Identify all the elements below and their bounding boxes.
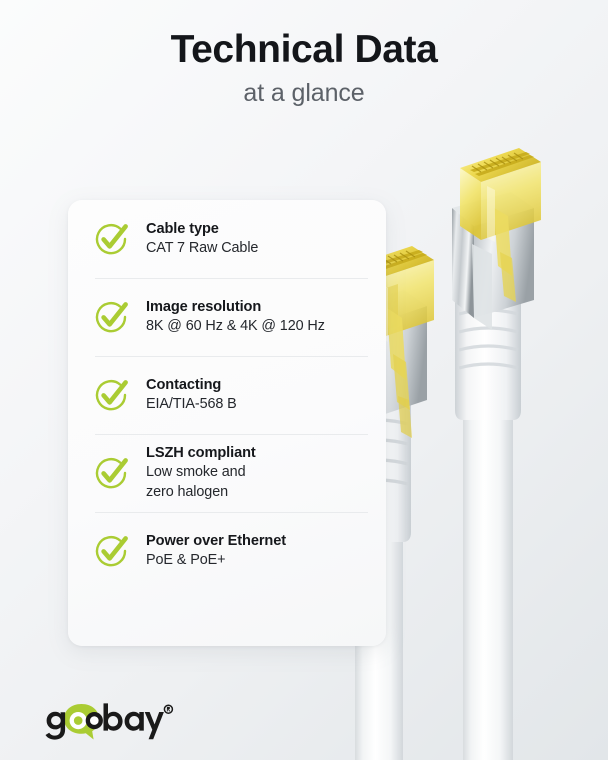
spec-row-text: Cable type CAT 7 Raw Cable [146,220,372,259]
spec-list: Cable type CAT 7 Raw Cable Image resolut… [68,200,386,590]
spec-row-value: CAT 7 Raw Cable [146,239,372,259]
page-subtitle: at a glance [0,79,608,108]
logo-trademark-icon [164,705,172,713]
spec-row-title: Contacting [146,376,372,395]
spec-row-title: Image resolution [146,298,372,317]
spec-row-value: PoE & PoE+ [146,551,372,571]
spec-row-text: Image resolution 8K @ 60 Hz & 4K @ 120 H… [146,298,372,337]
spec-row-title: Power over Ethernet [146,532,372,551]
check-circle-icon [95,534,129,568]
spec-row-value: EIA/TIA-568 B [146,395,372,415]
spec-row-power-over-ethernet: Power over Ethernet PoE & PoE+ [68,512,386,590]
spec-row-value: 8K @ 60 Hz & 4K @ 120 Hz [146,317,372,337]
goobay-logo [44,700,174,742]
spec-row-text: Contacting EIA/TIA-568 B [146,376,372,415]
spec-row-cable-type: Cable type CAT 7 Raw Cable [68,200,386,278]
spec-row-title: LSZH compliant [146,444,372,463]
check-circle-icon [95,222,129,256]
rj45-plug-back [452,148,541,760]
check-circle-icon [95,378,129,412]
spec-row-title: Cable type [146,220,372,239]
spec-row-text: Power over Ethernet PoE & PoE+ [146,532,372,571]
spec-row-lszh-compliant: LSZH compliant Low smoke and zero haloge… [68,434,386,512]
check-circle-icon [95,456,129,490]
spec-row-value-line2: zero halogen [146,483,372,503]
spec-row-text: LSZH compliant Low smoke and zero haloge… [146,444,372,503]
page-title: Technical Data [0,28,608,72]
spec-row-value: Low smoke and [146,463,372,483]
spec-row-contacting: Contacting EIA/TIA-568 B [68,356,386,434]
spec-card: Cable type CAT 7 Raw Cable Image resolut… [68,200,386,646]
logo-wordmark [46,703,164,739]
spec-row-image-resolution: Image resolution 8K @ 60 Hz & 4K @ 120 H… [68,278,386,356]
check-circle-icon [95,300,129,334]
page-header: Technical Data at a glance [0,0,608,108]
